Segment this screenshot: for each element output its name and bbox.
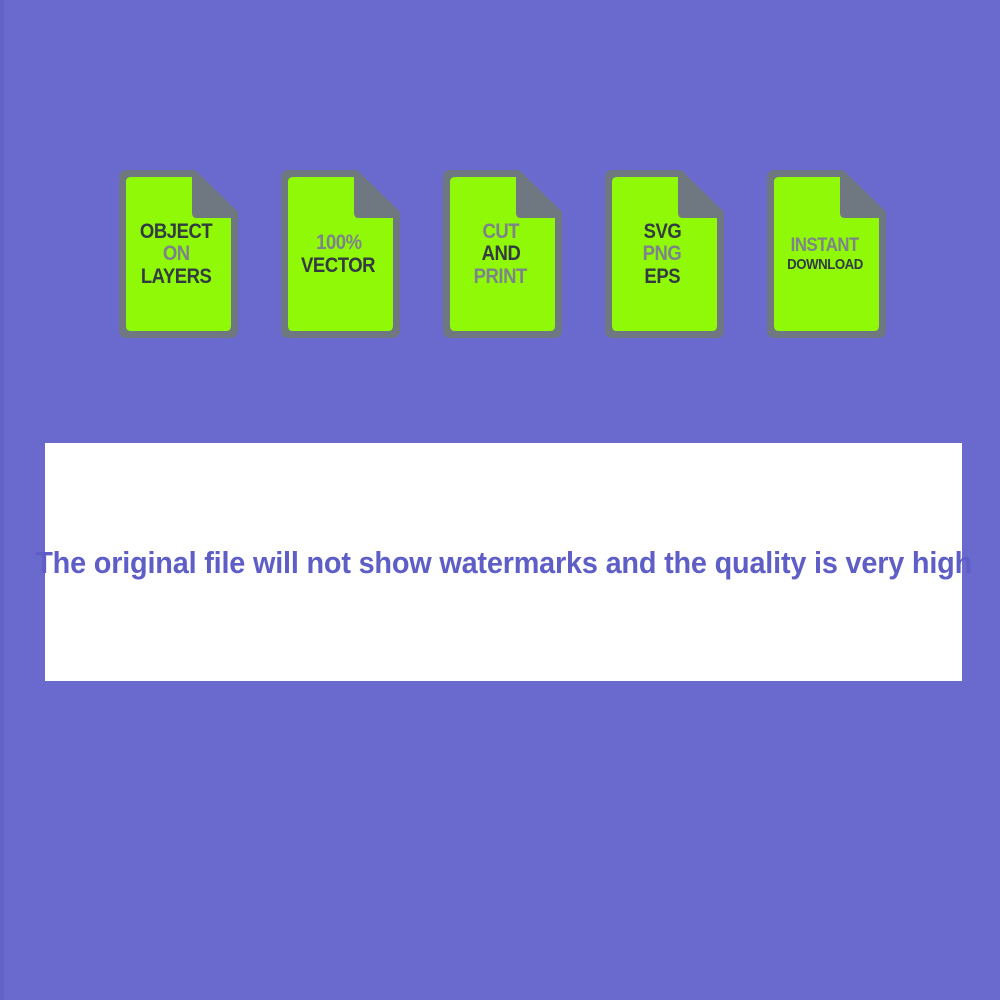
document-page-icon [599, 168, 726, 340]
watermark-notice-text: The original file will not show watermar… [35, 547, 972, 578]
artwork-canvas: OBJECTONLAYERS100%VECTORCUTANDPRINTSVGPN… [0, 0, 1000, 1000]
document-page-icon [437, 168, 564, 340]
badge-instant-download: INSTANTDOWNLOAD [761, 168, 888, 340]
feature-badge-row: OBJECTONLAYERS100%VECTORCUTANDPRINTSVGPN… [113, 168, 903, 340]
document-page-icon [761, 168, 888, 340]
badge-svg-png-eps: SVGPNGEPS [599, 168, 726, 340]
watermark-notice-panel: The original file will not show watermar… [45, 443, 962, 681]
badge-100-percent-vector: 100%VECTOR [275, 168, 402, 340]
badge-cut-and-print: CUTANDPRINT [437, 168, 564, 340]
document-page-icon [113, 168, 240, 340]
left-edge-strip [0, 0, 4, 1000]
badge-object-on-layers: OBJECTONLAYERS [113, 168, 240, 340]
document-page-icon [275, 168, 402, 340]
